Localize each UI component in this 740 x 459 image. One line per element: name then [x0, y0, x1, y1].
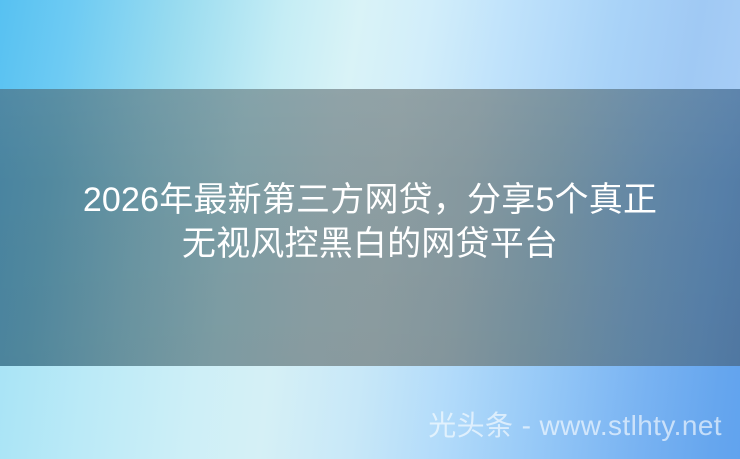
banner-title-line-2: 无视风控黑白的网贷平台: [16, 222, 724, 266]
site-watermark: 光头条 - www.stlhty.net: [428, 409, 722, 443]
banner-title: 2026年最新第三方网贷，分享5个真正 无视风控黑白的网贷平台: [0, 178, 740, 266]
banner-image: 2026年最新第三方网贷，分享5个真正 无视风控黑白的网贷平台 光头条 - ww…: [0, 0, 740, 459]
top-light-band: [0, 0, 740, 89]
banner-title-line-1: 2026年最新第三方网贷，分享5个真正: [16, 178, 724, 222]
